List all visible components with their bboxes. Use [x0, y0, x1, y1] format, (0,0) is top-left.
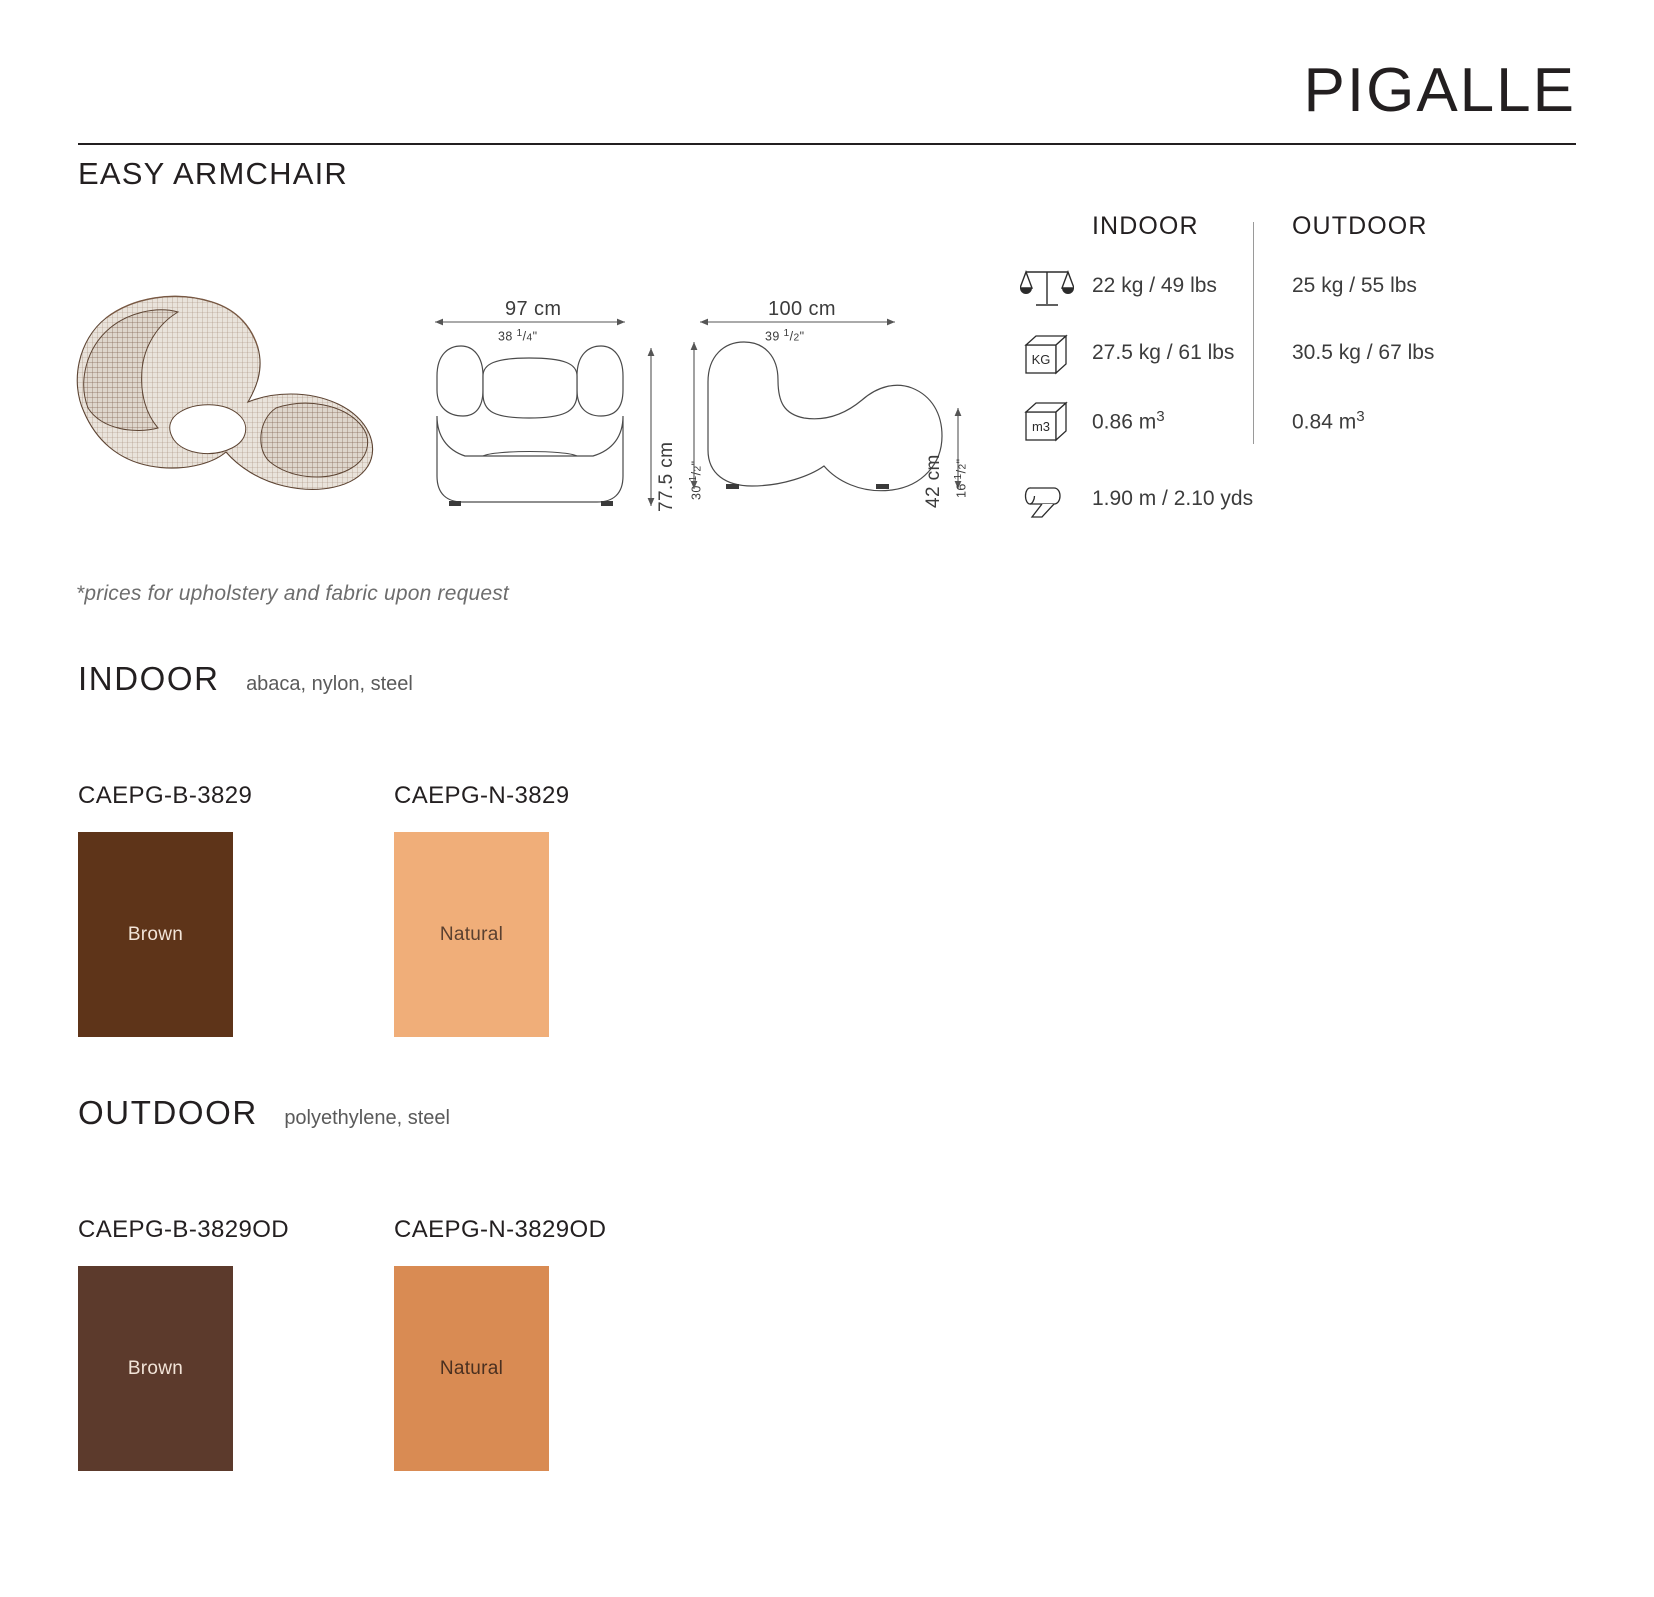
swatch-item[interactable]: CAEPG-N-3829 Natural: [394, 782, 694, 1037]
price-note: *prices for upholstery and fabric upon r…: [76, 582, 509, 606]
side-seat-in-num: 1: [953, 473, 964, 479]
swatch-color-name: Natural: [440, 1358, 503, 1380]
swatch-color-box[interactable]: Brown: [78, 1266, 233, 1471]
swatch-color-box[interactable]: Natural: [394, 1266, 549, 1471]
spec-net-weight-outdoor: 25 kg / 55 lbs: [1292, 274, 1417, 298]
spec-sheet-page: PIGALLE EASY ARMCHAIR: [0, 0, 1654, 1597]
swatch-color-name: Brown: [128, 1358, 183, 1380]
swatch-item[interactable]: CAEPG-B-3829 Brown: [78, 782, 378, 1037]
m3-box-text: m3: [1032, 419, 1050, 434]
side-seat-in-whole: 16: [954, 483, 968, 498]
spec-gross-weight-outdoor: 30.5 kg / 67 lbs: [1292, 341, 1434, 365]
spec-column-indoor-label: INDOOR: [1092, 212, 1199, 241]
indoor-swatch-row: CAEPG-B-3829 Brown CAEPG-N-3829 Natural: [78, 782, 1578, 1042]
swatch-color-name: Natural: [440, 924, 503, 946]
spec-volume-indoor-value: 0.86 m: [1092, 411, 1156, 434]
spec-volume-outdoor-value: 0.84 m: [1292, 411, 1356, 434]
swatch-code: CAEPG-B-3829: [78, 782, 378, 810]
outdoor-section-header: OUTDOOR polyethylene, steel: [78, 1094, 1578, 1150]
swatch-color-box[interactable]: Natural: [394, 832, 549, 1037]
swatch-code: CAEPG-N-3829OD: [394, 1216, 694, 1244]
spec-volume-outdoor-exp: 3: [1356, 408, 1364, 425]
spec-volume-outdoor: 0.84 m3: [1292, 408, 1365, 435]
balance-scale-icon: [1020, 266, 1074, 312]
outdoor-section-materials: polyethylene, steel: [284, 1107, 450, 1130]
spec-table-header: INDOOR OUTDOOR: [1012, 212, 1572, 258]
fabric-roll-icon: [1020, 479, 1074, 525]
kg-box-text: KG: [1032, 352, 1051, 367]
swatch-item[interactable]: CAEPG-N-3829OD Natural: [394, 1216, 694, 1471]
outdoor-swatch-row: CAEPG-B-3829OD Brown CAEPG-N-3829OD Natu…: [78, 1216, 1578, 1476]
outdoor-section: OUTDOOR polyethylene, steel CAEPG-B-3829…: [78, 1094, 1578, 1476]
volume-box-icon: m3: [1020, 400, 1074, 446]
brand-title: PIGALLE: [1304, 60, 1576, 122]
front-elevation-drawing: [425, 290, 675, 530]
spec-row-fabric: 1.90 m / 2.10 yds: [1012, 471, 1572, 538]
indoor-section-materials: abaca, nylon, steel: [246, 673, 413, 696]
spec-row-volume: m3 0.86 m3 0.84 m3: [1012, 392, 1572, 459]
spec-column-outdoor-label: OUTDOOR: [1292, 212, 1427, 241]
spec-volume-indoor: 0.86 m3: [1092, 408, 1165, 435]
header-divider: [78, 143, 1576, 145]
specifications-table: INDOOR OUTDOOR 22 kg / 49 lbs: [1012, 212, 1572, 538]
spec-row-gross-weight: KG 27.5 kg / 61 lbs 30.5 kg / 67 lbs: [1012, 325, 1572, 392]
spec-volume-indoor-exp: 3: [1156, 408, 1164, 425]
swatch-code: CAEPG-B-3829OD: [78, 1216, 378, 1244]
indoor-section-header: INDOOR abaca, nylon, steel: [78, 660, 1578, 716]
indoor-section: INDOOR abaca, nylon, steel CAEPG-B-3829 …: [78, 660, 1578, 1042]
gross-weight-box-icon: KG: [1020, 333, 1074, 379]
side-seat-height-in: 16 1/2": [953, 459, 968, 498]
spec-fabric-indoor: 1.90 m / 2.10 yds: [1092, 487, 1253, 511]
indoor-section-title: INDOOR: [78, 660, 220, 698]
product-title: EASY ARMCHAIR: [78, 156, 348, 192]
spec-row-net-weight: 22 kg / 49 lbs 25 kg / 55 lbs: [1012, 258, 1572, 325]
swatch-code: CAEPG-N-3829: [394, 782, 694, 810]
swatch-color-box[interactable]: Brown: [78, 832, 233, 1037]
side-seat-height-cm: 42 cm: [923, 454, 945, 508]
front-height-cm: 77.5 cm: [656, 442, 678, 512]
spec-gross-weight-indoor: 27.5 kg / 61 lbs: [1092, 341, 1234, 365]
spec-net-weight-indoor: 22 kg / 49 lbs: [1092, 274, 1217, 298]
product-photo: [62, 262, 392, 512]
swatch-color-name: Brown: [128, 924, 183, 946]
outdoor-section-title: OUTDOOR: [78, 1094, 258, 1132]
side-seat-in-den: 2: [957, 463, 968, 469]
swatch-item[interactable]: CAEPG-B-3829OD Brown: [78, 1216, 378, 1471]
